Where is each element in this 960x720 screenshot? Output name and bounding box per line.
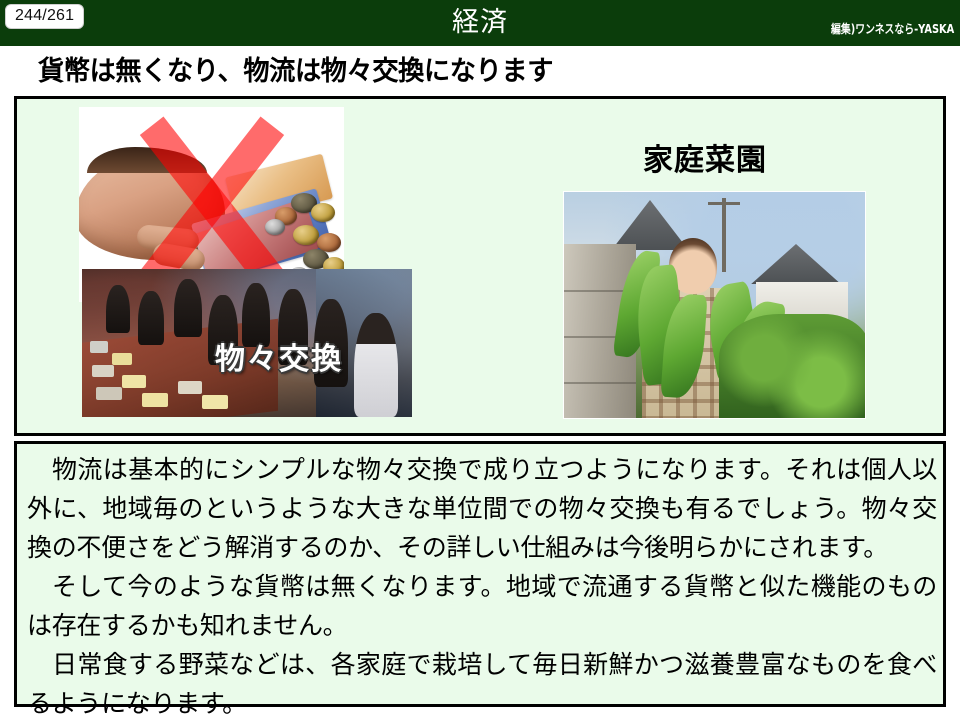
goods-item bbox=[112, 353, 132, 365]
body-paragraph: そして今のような貨幣は無くなります。地域で流通する貨幣と似た機能のものは存在する… bbox=[27, 567, 937, 645]
goods-item bbox=[202, 395, 228, 409]
coin bbox=[265, 219, 285, 235]
goods-item bbox=[142, 393, 168, 407]
slide-header-banner: 244/261 経済 編集)ワンネスなら-YASKA bbox=[0, 0, 960, 46]
coin bbox=[293, 225, 319, 245]
person-silhouette bbox=[138, 291, 164, 345]
barter-photo-label: 物々交換 bbox=[215, 334, 343, 378]
slide-banner-credit: 編集)ワンネスなら-YASKA bbox=[831, 22, 954, 37]
body-paragraph: 日常食する野菜などは、各家庭で栽培して毎日新鮮かつ滋養豊富なものを食べるようにな… bbox=[27, 645, 937, 720]
slide-banner-title: 経済 bbox=[0, 7, 960, 39]
person-silhouette bbox=[354, 313, 398, 417]
body-paragraph: 物流は基本的にシンプルな物々交換で成り立つようになります。それは個人以外に、地域… bbox=[27, 450, 937, 567]
garden-photo bbox=[563, 191, 866, 419]
utility-pole-shape bbox=[722, 198, 726, 272]
media-panel: 物々交換 家庭菜園 bbox=[14, 96, 946, 436]
body-text: 物流は基本的にシンプルな物々交換で成り立つようになります。それは個人以外に、地域… bbox=[27, 450, 937, 720]
presentation-slide: 244/261 経済 編集)ワンネスなら-YASKA 貨幣は無くなり、物流は物々… bbox=[0, 0, 960, 720]
slide-subtitle: 貨幣は無くなり、物流は物々交換になります bbox=[38, 55, 553, 89]
goods-item bbox=[122, 375, 146, 388]
hand-shadow-shape bbox=[87, 147, 207, 173]
goods-item bbox=[92, 365, 114, 377]
person-silhouette bbox=[106, 285, 130, 333]
goods-item bbox=[178, 381, 202, 394]
person-silhouette bbox=[174, 279, 202, 337]
house-roof-shape bbox=[740, 244, 852, 284]
goods-item bbox=[90, 341, 108, 353]
goods-item bbox=[96, 387, 122, 400]
body-text-panel: 物流は基本的にシンプルな物々交換で成り立つようになります。それは個人以外に、地域… bbox=[14, 441, 946, 707]
garden-heading: 家庭菜園 bbox=[643, 143, 767, 179]
coin bbox=[311, 203, 335, 222]
garden-vegetation bbox=[719, 314, 866, 419]
